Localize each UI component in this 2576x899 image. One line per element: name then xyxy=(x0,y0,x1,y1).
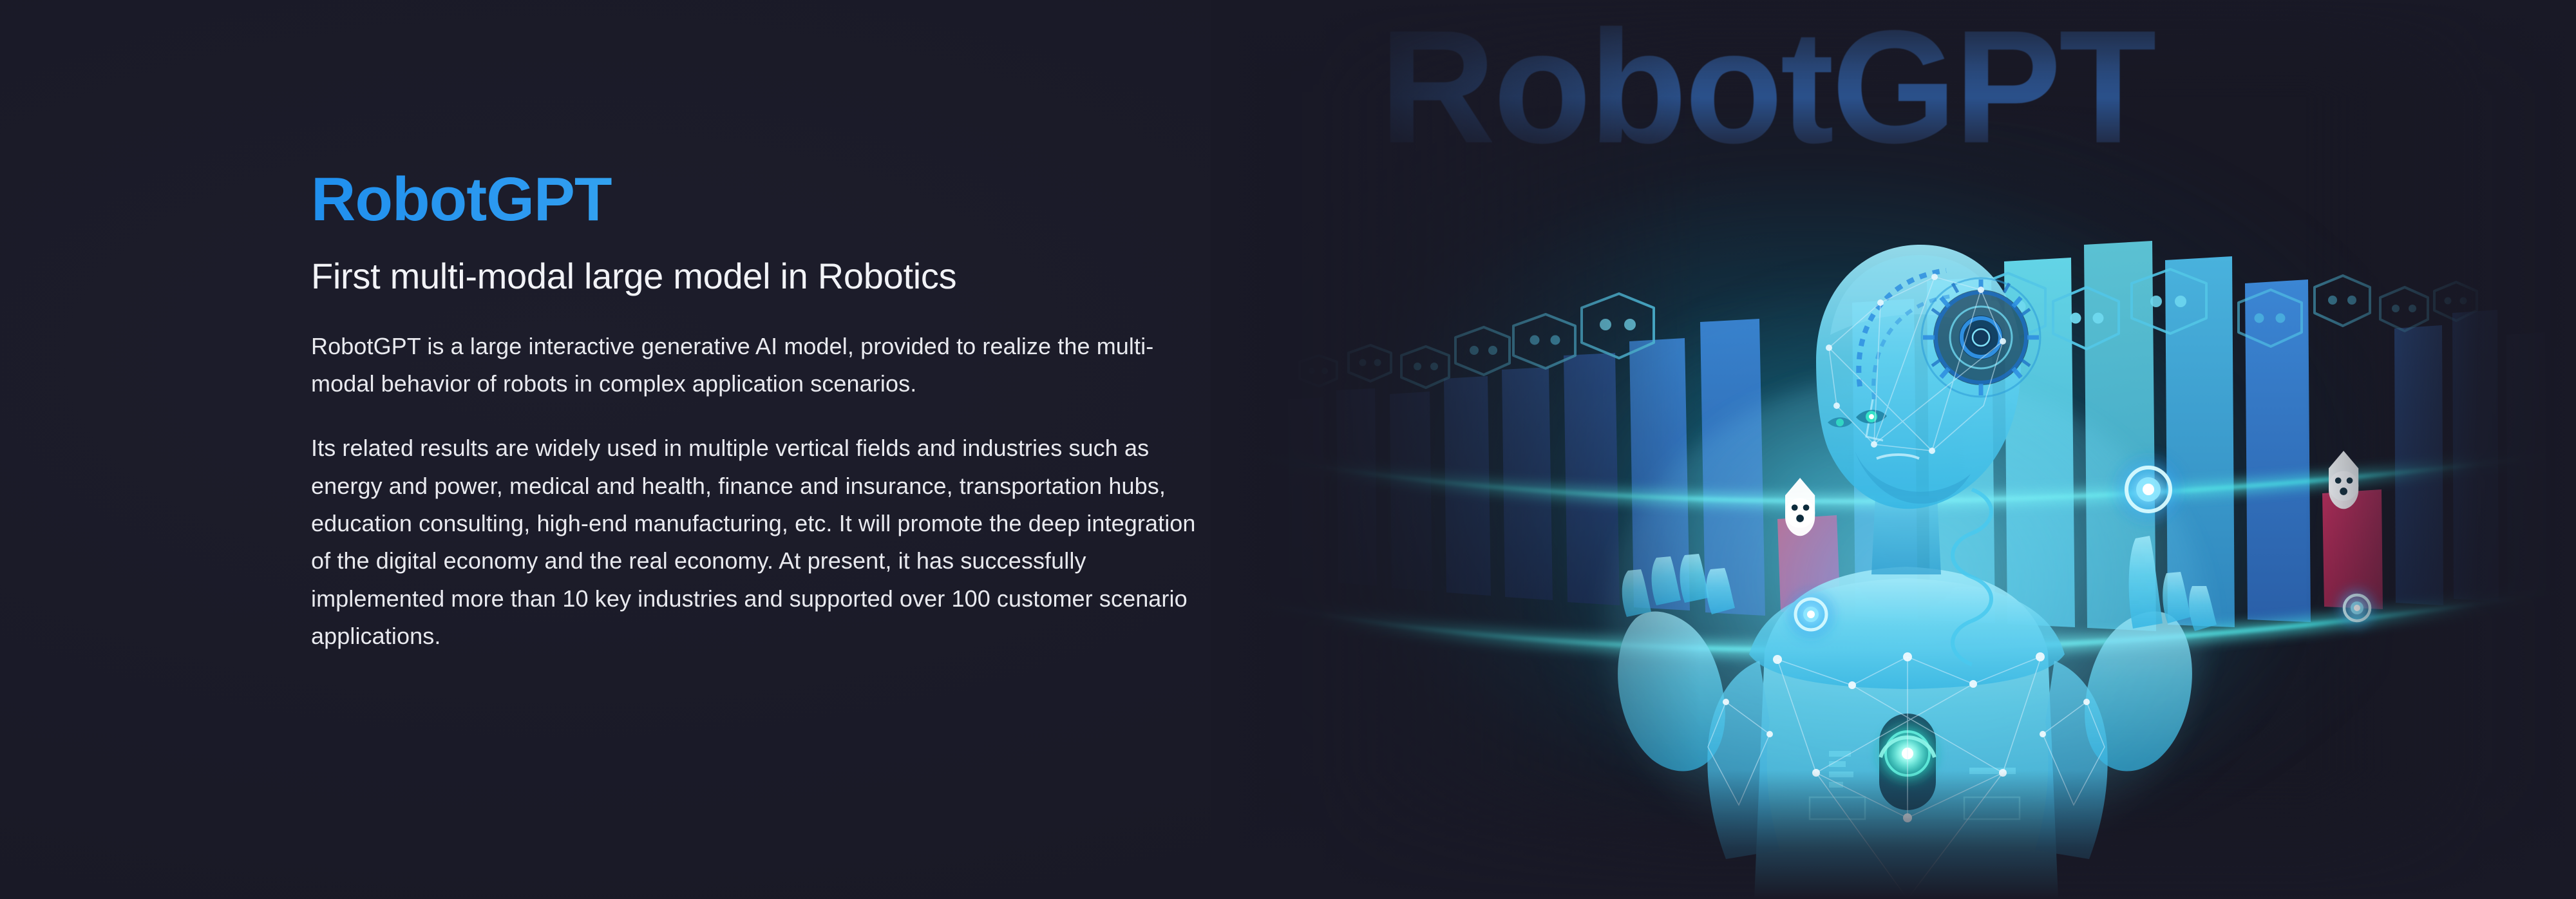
hero-paragraph-1: RobotGPT is a large interactive generati… xyxy=(311,328,1206,403)
page-title: RobotGPT xyxy=(311,169,1213,231)
robotgpt-hero-banner: RobotGPT xyxy=(0,0,2576,899)
robot-head-marker-icon xyxy=(1785,478,1815,536)
hero-subtitle: First multi-modal large model in Robotic… xyxy=(311,256,1213,297)
glow-ring-icon xyxy=(2108,449,2188,529)
glow-ring-icon xyxy=(1783,586,1839,643)
hero-copy-block: RobotGPT First multi-modal large model i… xyxy=(311,169,1213,655)
hero-illustration: RobotGPT xyxy=(1211,0,2576,899)
hero-paragraph-2: Its related results are widely used in m… xyxy=(311,430,1206,655)
